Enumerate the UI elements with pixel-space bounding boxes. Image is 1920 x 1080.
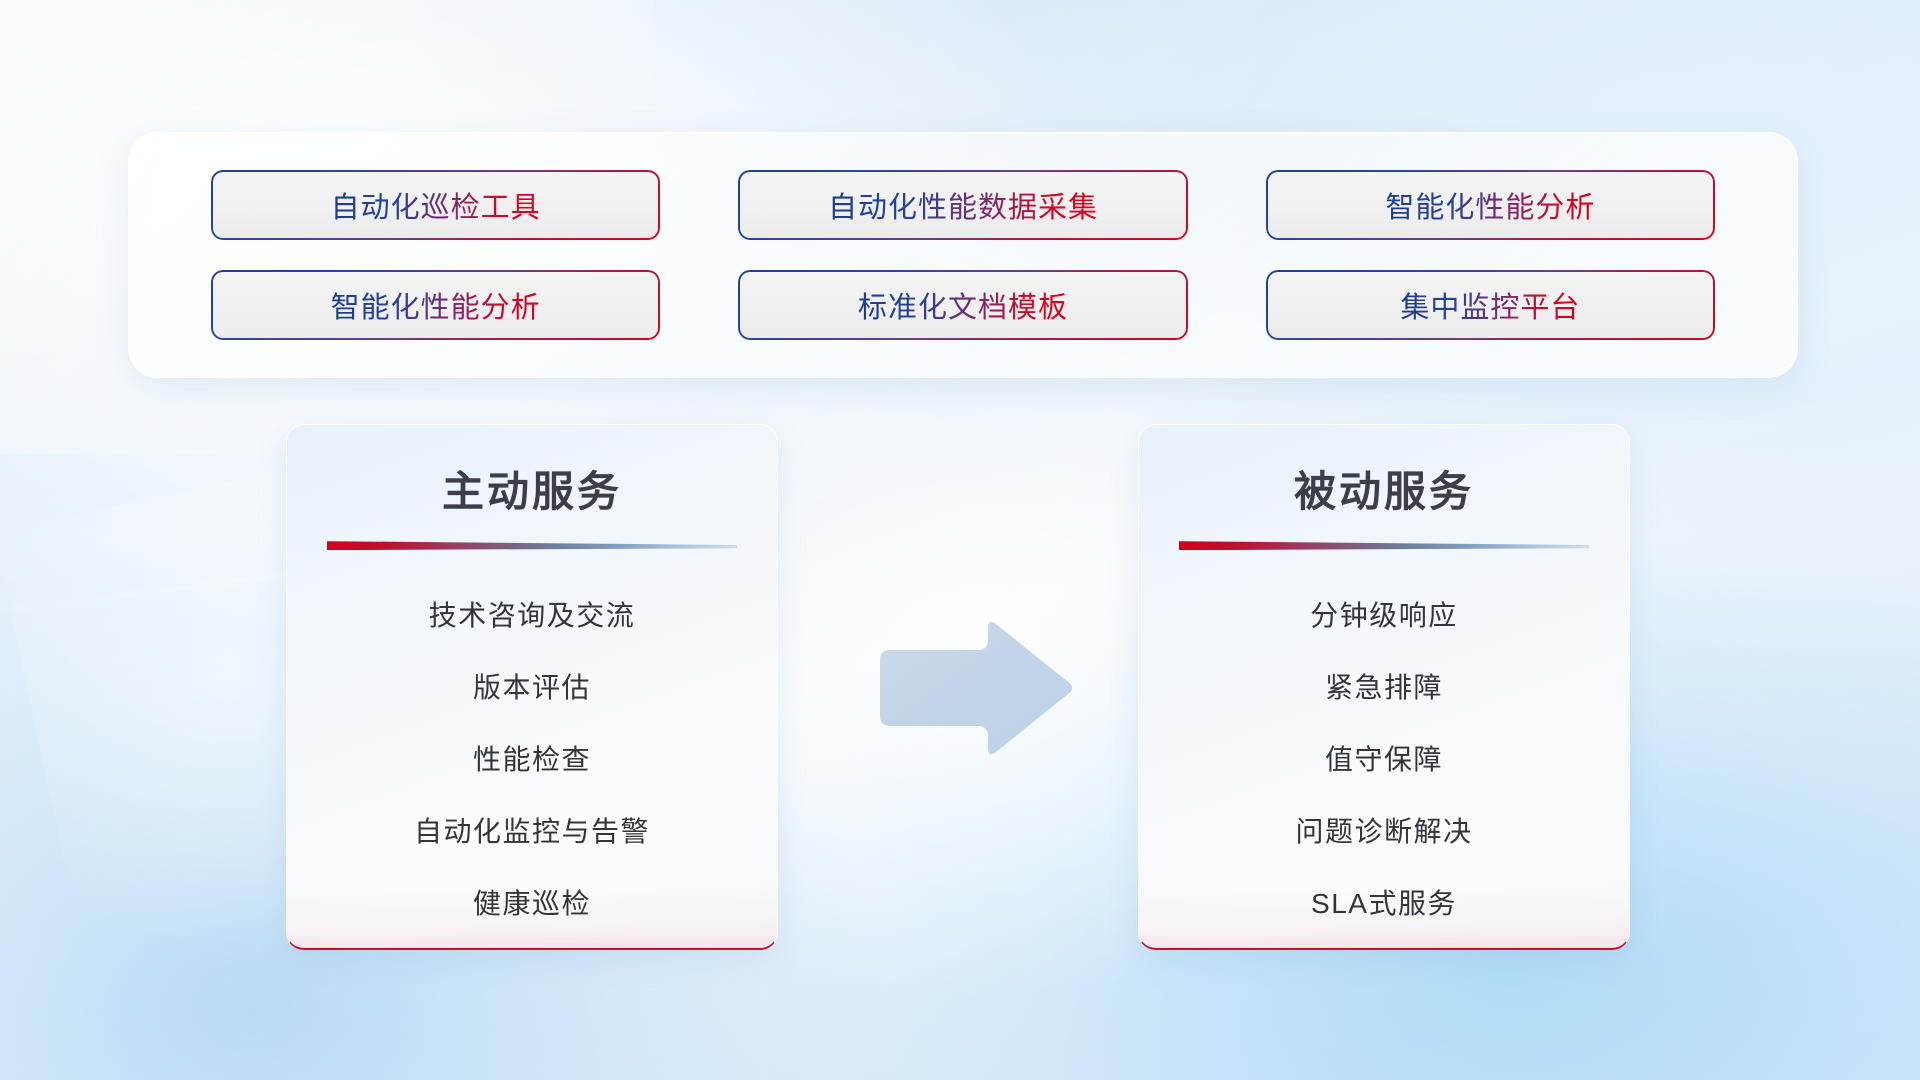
service-item: 问题诊断解决 <box>1173 796 1595 868</box>
service-card-title: 主动服务 <box>321 469 743 515</box>
card-title-divider <box>327 541 737 550</box>
service-item: 分钟级响应 <box>1173 580 1595 652</box>
card-title-divider-bar <box>1179 541 1589 550</box>
capability-pill-label: 标准化文档模板 <box>858 284 1068 326</box>
service-item-list: 分钟级响应 紧急排障 值守保障 问题诊断解决 SLA式服务 <box>1173 580 1595 940</box>
capability-pill-5[interactable]: 标准化文档模板 <box>738 270 1187 340</box>
service-item: 性能检查 <box>321 724 743 796</box>
service-item: 健康巡检 <box>321 868 743 940</box>
service-item: 版本评估 <box>321 652 743 724</box>
capability-banner: 自动化巡检工具 自动化性能数据采集 智能化性能分析 智能化性能分析 标准化文档模… <box>128 132 1798 378</box>
capability-pill-label: 自动化性能数据采集 <box>828 184 1098 226</box>
capability-pill-6[interactable]: 集中监控平台 <box>1266 270 1715 340</box>
service-card-active: 主动服务 技术咨询及交流 版本评估 性能检查 自动化监控与告警 健康巡检 <box>286 424 778 950</box>
service-card-passive: 被动服务 分钟级响应 紧急排障 值守保障 问题诊断解决 SLA式服务 <box>1138 424 1630 950</box>
capability-pill-label: 智能化性能分析 <box>331 284 541 326</box>
card-title-divider-bar <box>327 541 737 550</box>
capability-pill-label: 集中监控平台 <box>1400 284 1580 326</box>
capability-pill-label: 自动化巡检工具 <box>331 184 541 226</box>
capability-pill-4[interactable]: 智能化性能分析 <box>211 270 660 340</box>
capability-pill-label: 智能化性能分析 <box>1385 184 1595 226</box>
service-item: 技术咨询及交流 <box>321 580 743 652</box>
service-item-list: 技术咨询及交流 版本评估 性能检查 自动化监控与告警 健康巡检 <box>321 580 743 940</box>
arrow-right-icon <box>870 618 1075 766</box>
service-card-title: 被动服务 <box>1173 469 1595 515</box>
capability-pill-1[interactable]: 自动化巡检工具 <box>211 170 660 240</box>
service-item: 值守保障 <box>1173 724 1595 796</box>
capability-pill-2[interactable]: 自动化性能数据采集 <box>738 170 1187 240</box>
card-title-divider <box>1179 541 1589 550</box>
service-item: SLA式服务 <box>1173 868 1595 940</box>
capability-pill-3[interactable]: 智能化性能分析 <box>1266 170 1715 240</box>
service-item: 紧急排障 <box>1173 652 1595 724</box>
service-item: 自动化监控与告警 <box>321 796 743 868</box>
